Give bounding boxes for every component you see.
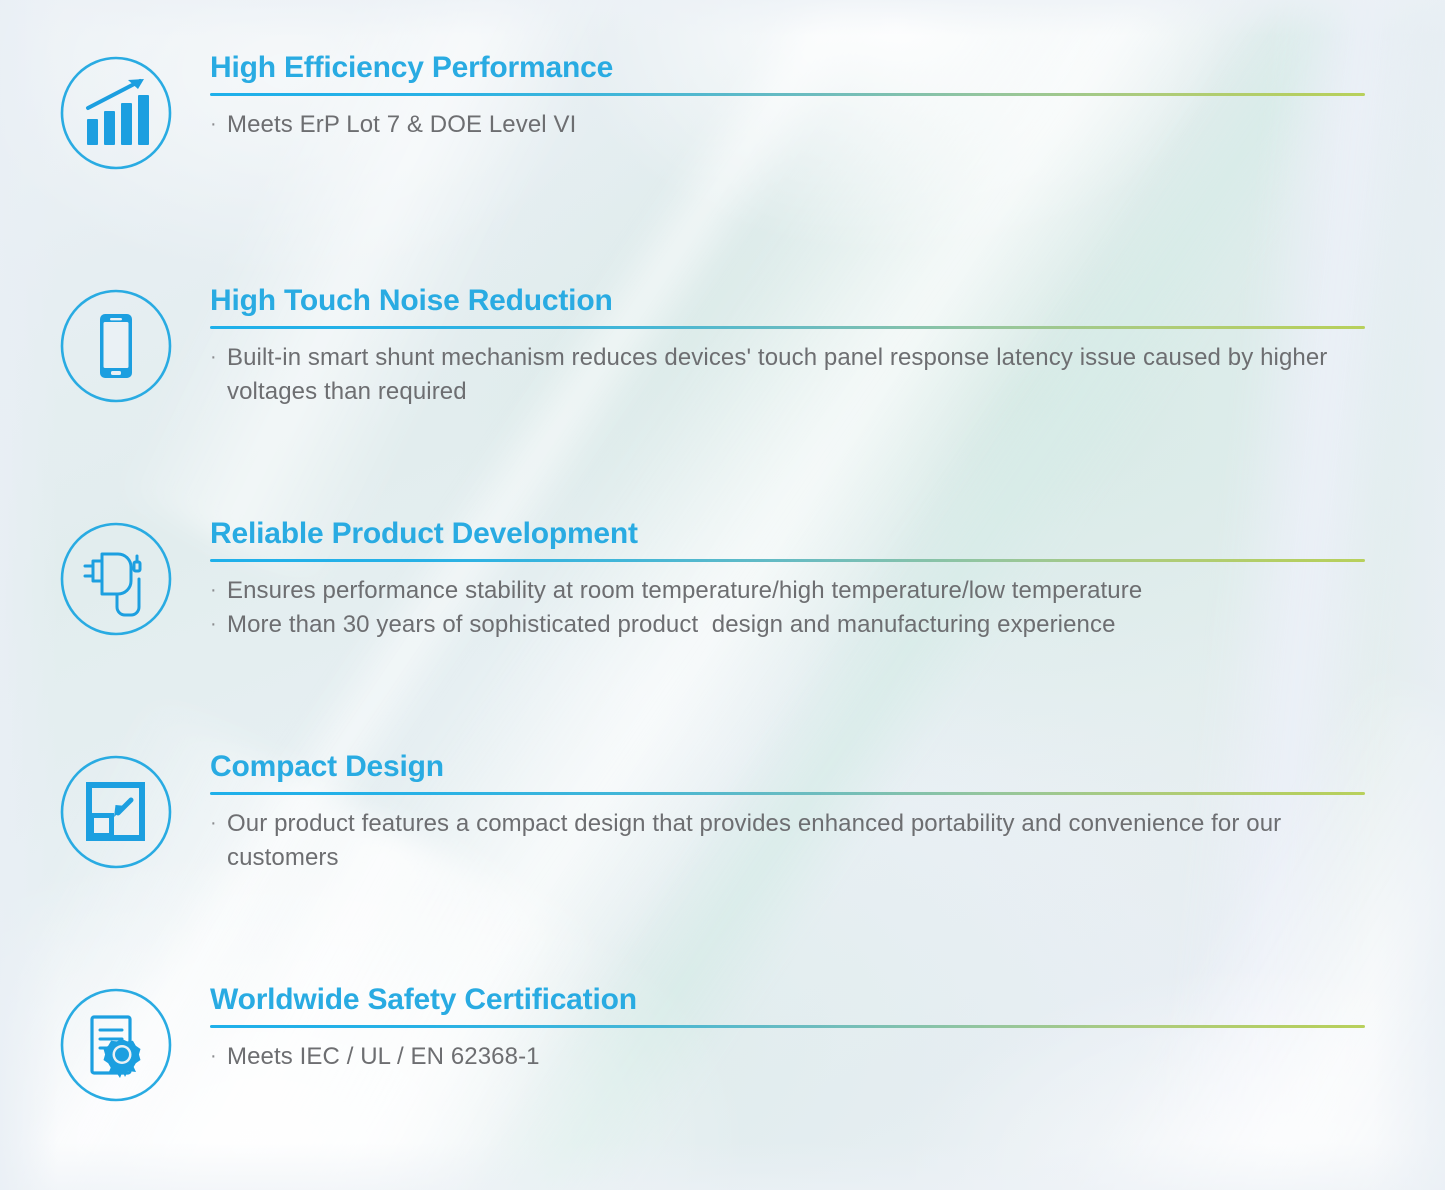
bullet-text: Meets IEC / UL / EN 62368-1 <box>227 1040 1365 1075</box>
bullet-text: Ensures performance stability at room te… <box>227 574 1365 609</box>
bullet-marker: · <box>210 1040 227 1075</box>
feature-divider <box>210 326 1365 329</box>
bullet-text: More than 30 years of sophisticated prod… <box>227 608 1365 643</box>
feature-body: Reliable Product Development · Ensures p… <box>210 518 1365 643</box>
feature-bullet-list: · Ensures performance stability at room … <box>210 574 1365 643</box>
bullet-marker: · <box>210 341 227 410</box>
feature-divider <box>210 1025 1365 1028</box>
smartphone-icon <box>58 285 174 407</box>
feature-body: Compact Design · Our product features a … <box>210 751 1365 876</box>
feature-divider <box>210 93 1365 96</box>
feature-divider <box>210 792 1365 795</box>
feature-body: Worldwide Safety Certification · Meets I… <box>210 984 1365 1074</box>
feature-bullet: · Meets IEC / UL / EN 62368-1 <box>210 1040 1365 1075</box>
feature-title: Worldwide Safety Certification <box>210 984 1365 1016</box>
feature-divider <box>210 559 1365 562</box>
feature-title: Reliable Product Development <box>210 518 1365 550</box>
bullet-marker: · <box>210 574 227 609</box>
feature-highlights-page: High Efficiency Performance · Meets ErP … <box>0 0 1445 1190</box>
feature-bullet-list: · Built-in smart shunt mechanism reduces… <box>210 341 1365 410</box>
feature-bullet-list: · Our product features a compact design … <box>210 807 1365 876</box>
bullet-text: Built-in smart shunt mechanism reduces d… <box>227 341 1365 410</box>
feature-bullet-list: · Meets IEC / UL / EN 62368-1 <box>210 1040 1365 1075</box>
compact-resize-icon <box>58 751 174 873</box>
bullet-marker: · <box>210 608 227 643</box>
bullet-text: Our product features a compact design th… <box>227 807 1365 876</box>
feature-title: High Efficiency Performance <box>210 52 1365 84</box>
feature-bullet: · More than 30 years of sophisticated pr… <box>210 608 1365 643</box>
bullet-marker: · <box>210 108 227 143</box>
feature-bullet: · Meets ErP Lot 7 & DOE Level VI <box>210 108 1365 143</box>
feature-title: Compact Design <box>210 751 1365 783</box>
bullet-text: Meets ErP Lot 7 & DOE Level VI <box>227 108 1365 143</box>
feature-bullet: · Our product features a compact design … <box>210 807 1365 876</box>
certificate-award-icon <box>58 984 174 1106</box>
feature-bullet: · Built-in smart shunt mechanism reduces… <box>210 341 1365 410</box>
bullet-marker: · <box>210 807 227 876</box>
power-adapter-icon <box>58 518 174 640</box>
feature-bullet: · Ensures performance stability at room … <box>210 574 1365 609</box>
feature-bullet-list: · Meets ErP Lot 7 & DOE Level VI <box>210 108 1365 143</box>
feature-title: High Touch Noise Reduction <box>210 285 1365 317</box>
feature-body: High Touch Noise Reduction · Built-in sm… <box>210 285 1365 410</box>
bar-chart-growth-icon <box>58 52 174 174</box>
feature-body: High Efficiency Performance · Meets ErP … <box>210 52 1365 142</box>
